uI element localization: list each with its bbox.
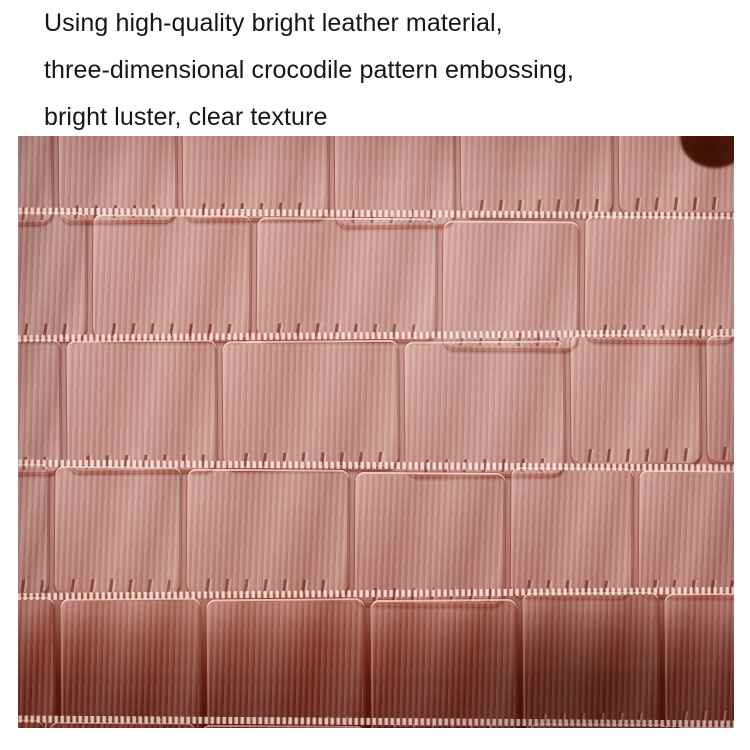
caption-line-3: bright luster, clear texture bbox=[44, 94, 744, 141]
leather-scale bbox=[511, 467, 634, 599]
scale-row bbox=[18, 333, 734, 484]
caption-line-2: three-dimensional crocodile pattern embo… bbox=[44, 47, 744, 94]
leather-scale bbox=[49, 722, 196, 728]
leather-scale bbox=[18, 339, 62, 476]
product-caption: Using high-quality bright leather materi… bbox=[44, 0, 744, 141]
leather-scale bbox=[664, 592, 734, 728]
leather-scale bbox=[404, 340, 565, 477]
leather-scale bbox=[66, 339, 217, 473]
leather-scale bbox=[187, 469, 350, 598]
leather-scale bbox=[206, 598, 365, 728]
caption-line-1: Using high-quality bright leather materi… bbox=[44, 0, 744, 47]
scale-row bbox=[18, 591, 734, 728]
leather-scale bbox=[18, 463, 50, 597]
leather-scale bbox=[706, 334, 734, 465]
leather-scale bbox=[461, 136, 614, 218]
leather-scale bbox=[93, 214, 252, 342]
leather-scale bbox=[18, 719, 44, 728]
leather-scale bbox=[529, 723, 670, 728]
leather-scale bbox=[619, 136, 734, 216]
leather-texture-photo bbox=[18, 136, 734, 728]
product-description-page: Using high-quality bright leather materi… bbox=[0, 0, 750, 750]
leather-scale bbox=[585, 215, 734, 343]
leather-scale bbox=[18, 597, 56, 728]
leather-scale bbox=[570, 333, 701, 467]
scale-row bbox=[18, 463, 734, 610]
leather-scale bbox=[18, 211, 87, 342]
leather-scale bbox=[370, 599, 517, 728]
leather-scale bbox=[675, 726, 734, 728]
leather-scale bbox=[443, 220, 580, 351]
leather-scale bbox=[522, 592, 659, 728]
leather-scale bbox=[59, 136, 178, 224]
leather-scale bbox=[222, 340, 399, 472]
leather-scale bbox=[257, 217, 438, 342]
leather-scale bbox=[201, 725, 366, 728]
leather-scale bbox=[355, 472, 506, 607]
leather-scale bbox=[639, 470, 734, 599]
leather-scale bbox=[55, 466, 182, 598]
crocodile-scale-grid bbox=[18, 136, 734, 728]
leather-scale bbox=[60, 598, 201, 728]
leather-scale bbox=[183, 136, 330, 222]
